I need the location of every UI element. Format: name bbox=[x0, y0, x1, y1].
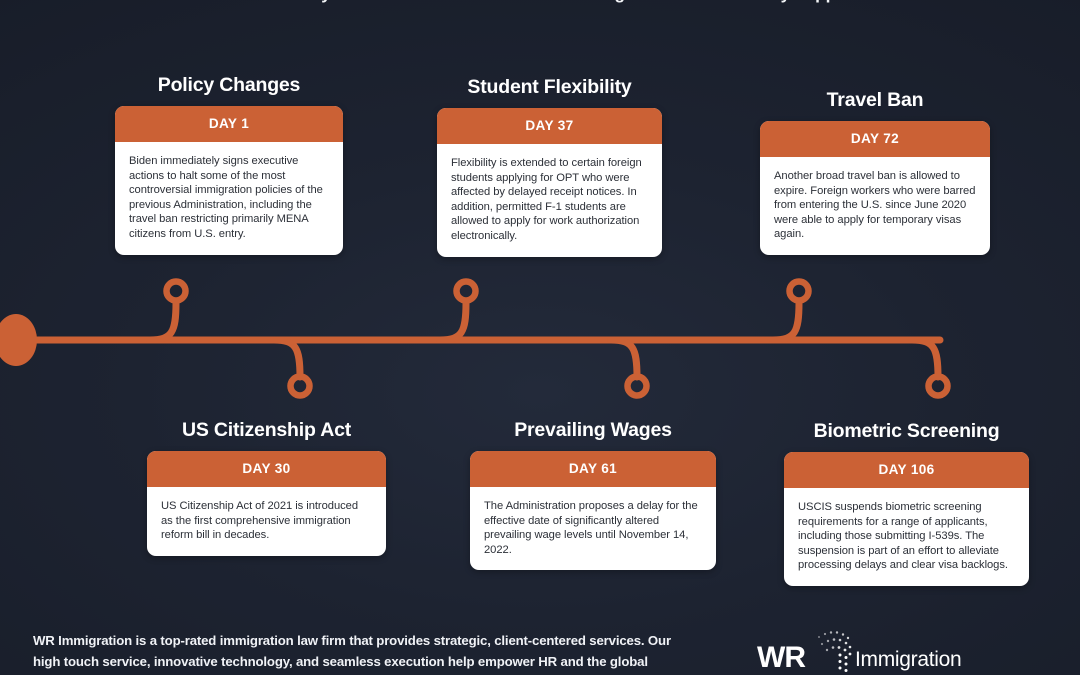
timeline-node bbox=[929, 377, 948, 396]
milestone-biometric-screening: Biometric Screening DAY 106 USCIS suspen… bbox=[784, 420, 1029, 586]
page-headline: and efficiency for human resources and t… bbox=[0, 0, 1080, 6]
milestone-day-badge: DAY 72 bbox=[760, 121, 990, 157]
timeline-node bbox=[628, 377, 647, 396]
milestone-card: DAY 30 US Citizenship Act of 2021 is int… bbox=[147, 451, 386, 556]
milestone-card: DAY 61 The Administration proposes a del… bbox=[470, 451, 716, 570]
milestone-title: Travel Ban bbox=[760, 89, 990, 112]
milestone-card: DAY 1 Biden immediately signs executive … bbox=[115, 106, 343, 255]
logo-immigration-text: Immigration bbox=[855, 648, 961, 672]
milestone-title: Prevailing Wages bbox=[470, 419, 716, 442]
milestone-prevailing-wages: Prevailing Wages DAY 61 The Administrati… bbox=[470, 419, 716, 570]
milestone-title: Policy Changes bbox=[115, 74, 343, 97]
milestone-body: USCIS suspends biometric screening requi… bbox=[784, 488, 1029, 586]
milestone-us-citizenship-act: US Citizenship Act DAY 30 US Citizenship… bbox=[147, 419, 386, 556]
milestone-travel-ban: Travel Ban DAY 72 Another broad travel b… bbox=[760, 89, 990, 255]
milestone-title: Biometric Screening bbox=[784, 420, 1029, 443]
milestone-day-badge: DAY 37 bbox=[437, 108, 662, 144]
milestone-body: US Citizenship Act of 2021 is introduced… bbox=[147, 487, 386, 556]
milestone-card: DAY 37 Flexibility is extended to certai… bbox=[437, 108, 662, 257]
milestone-card: DAY 106 USCIS suspends biometric screeni… bbox=[784, 452, 1029, 586]
timeline-connector bbox=[0, 270, 1080, 400]
milestone-policy-changes: Policy Changes DAY 1 Biden immediately s… bbox=[115, 74, 343, 255]
milestone-body: The Administration proposes a delay for … bbox=[470, 487, 716, 570]
milestone-card: DAY 72 Another broad travel ban is allow… bbox=[760, 121, 990, 255]
milestone-title: US Citizenship Act bbox=[147, 419, 386, 442]
milestone-student-flexibility: Student Flexibility DAY 37 Flexibility i… bbox=[437, 76, 662, 257]
milestone-body: Biden immediately signs executive action… bbox=[115, 142, 343, 255]
infographic-canvas: and efficiency for human resources and t… bbox=[0, 0, 1080, 675]
wr-immigration-logo: WR Immigration bbox=[757, 634, 987, 675]
milestone-body: Flexibility is extended to certain forei… bbox=[437, 144, 662, 257]
logo-wordmark: WR bbox=[757, 643, 805, 673]
timeline-node bbox=[291, 377, 310, 396]
milestone-day-badge: DAY 106 bbox=[784, 452, 1029, 488]
milestone-day-badge: DAY 61 bbox=[470, 451, 716, 487]
milestone-title: Student Flexibility bbox=[437, 76, 662, 99]
milestone-day-badge: DAY 30 bbox=[147, 451, 386, 487]
milestone-body: Another broad travel ban is allowed to e… bbox=[760, 157, 990, 255]
timeline-node bbox=[167, 282, 186, 301]
timeline-start-cap bbox=[0, 314, 37, 366]
timeline-node bbox=[790, 282, 809, 301]
footer-description: WR Immigration is a top-rated immigratio… bbox=[33, 631, 683, 675]
milestone-day-badge: DAY 1 bbox=[115, 106, 343, 142]
timeline-node bbox=[457, 282, 476, 301]
